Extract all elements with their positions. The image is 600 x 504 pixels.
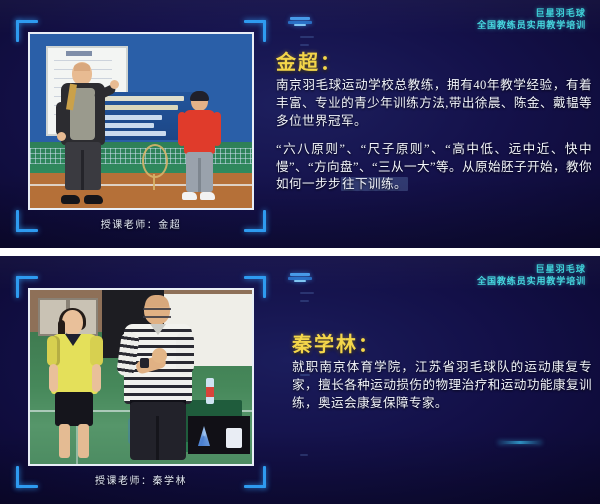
slide-coach-qinxuelin: 巨星羽毛球 全国教练员实用教学培训 <box>0 256 600 504</box>
decorative-tick-icon <box>300 36 314 38</box>
decorative-tick-icon <box>300 454 308 456</box>
coach-photo <box>28 32 254 210</box>
brand-subtitle: 全国教练员实用教学培训 <box>477 20 586 31</box>
brand-subtitle: 全国教练员实用教学培训 <box>477 276 586 287</box>
photo-block: 授课老师：金超 <box>16 20 266 232</box>
decorative-tick-icon <box>300 44 309 46</box>
coach-photo <box>28 288 254 466</box>
decorative-glyph-icon <box>288 16 314 26</box>
bio-paragraph-text: “六八原则”、“尺子原则”、“高中低、远中近、快中慢”、“方向盘”、“三从一大”… <box>276 142 592 192</box>
coach-intro-slide-deck: 巨星羽毛球 全国教练员实用教学培训 <box>0 0 600 504</box>
bio-highlighted-text: 往下训练。 <box>341 177 408 191</box>
photo-scene-classroom <box>30 34 252 208</box>
corner-bracket-icon <box>16 276 38 298</box>
slide-divider <box>0 248 600 256</box>
brand-lockup: 巨星羽毛球 全国教练员实用教学培训 <box>477 8 586 32</box>
photo-block: 授课老师：秦学林 <box>16 276 266 488</box>
bio-paragraph: “六八原则”、“尺子原则”、“高中低、远中近、快中慢”、“方向盘”、“三从一大”… <box>276 141 592 195</box>
photo-scene-gym <box>30 290 252 464</box>
corner-bracket-icon <box>244 20 266 42</box>
decorative-glyph-icon <box>288 272 314 282</box>
brand-lockup: 巨星羽毛球 全国教练员实用教学培训 <box>477 264 586 288</box>
brand-title: 巨星羽毛球 <box>477 8 586 19</box>
person-name: 金超： <box>276 52 592 74</box>
bio-text-column: 秦学林： 就职南京体育学院，江苏省羽毛球队的运动康复专家，擅长各种运动损伤的物理… <box>292 334 592 413</box>
bio-paragraph: 就职南京体育学院，江苏省羽毛球队的运动康复专家，擅长各种运动损伤的物理治疗和运动… <box>292 359 592 413</box>
bio-paragraph: 南京羽毛球运动学校总教练，拥有40年教学经验，有着丰富、专业的青少年训练方法,带… <box>276 77 592 131</box>
brand-title: 巨星羽毛球 <box>477 264 586 275</box>
photo-caption: 授课老师：秦学林 <box>16 472 266 487</box>
decorative-tick-icon <box>300 292 314 294</box>
person-name: 秦学林： <box>292 334 592 356</box>
slide-coach-jinchao: 巨星羽毛球 全国教练员实用教学培训 <box>0 0 600 248</box>
corner-bracket-icon <box>16 20 38 42</box>
decorative-tick-icon <box>300 300 309 302</box>
photo-caption: 授课老师：金超 <box>16 216 266 231</box>
bio-text-column: 金超： 南京羽毛球运动学校总教练，拥有40年教学经验，有着丰富、专业的青少年训练… <box>276 52 592 194</box>
corner-bracket-icon <box>244 276 266 298</box>
accent-line <box>498 441 542 444</box>
